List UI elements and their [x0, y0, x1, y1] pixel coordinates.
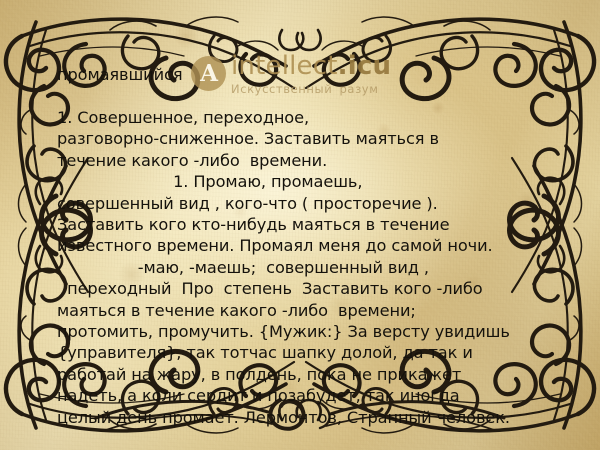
definition-line: целый день промает. Лермонтов, Странный … — [57, 407, 551, 428]
definition-line: разговорно-сниженное. Заставить маяться … — [57, 128, 551, 149]
headword-spacer — [57, 85, 551, 107]
definition-line: совершенный вид , кого-что ( просторечие… — [57, 193, 551, 214]
definition-line: 1. Совершенное, переходное, — [57, 107, 551, 128]
definition-line: протомить, промучить. {Мужик:} За версту… — [57, 321, 551, 342]
definition-line: Заставить кого кто-нибудь маяться в тече… — [57, 214, 551, 235]
definition-line: 1. Промаю, промаешь, — [57, 171, 551, 192]
definition-line: маяться в течение какого -либо времени; — [57, 300, 551, 321]
definition-line: переходный Про степень Заставить кого -л… — [57, 278, 551, 299]
definition-line: течение какого -либо времени. — [57, 150, 551, 171]
definition-line: работай на жару, в полдень, пока не прик… — [57, 364, 551, 385]
definition-line: надеть, а коли сердит и позабудет, так и… — [57, 385, 551, 406]
article-content: промаявшийся 1. Совершенное, переходное,… — [57, 64, 551, 428]
headword: промаявшийся — [57, 64, 551, 85]
definition-line: известного времени. Промаял меня до само… — [57, 235, 551, 256]
definition-line: -маю, -маешь; совершенный вид , — [57, 257, 551, 278]
definition-body: 1. Совершенное, переходное,разговорно-сн… — [57, 107, 551, 428]
definition-line: {управителя}, так тотчас шапку долой, да… — [57, 342, 551, 363]
parchment-slide: A intellect.icu Искусственный разум пром… — [0, 0, 600, 450]
